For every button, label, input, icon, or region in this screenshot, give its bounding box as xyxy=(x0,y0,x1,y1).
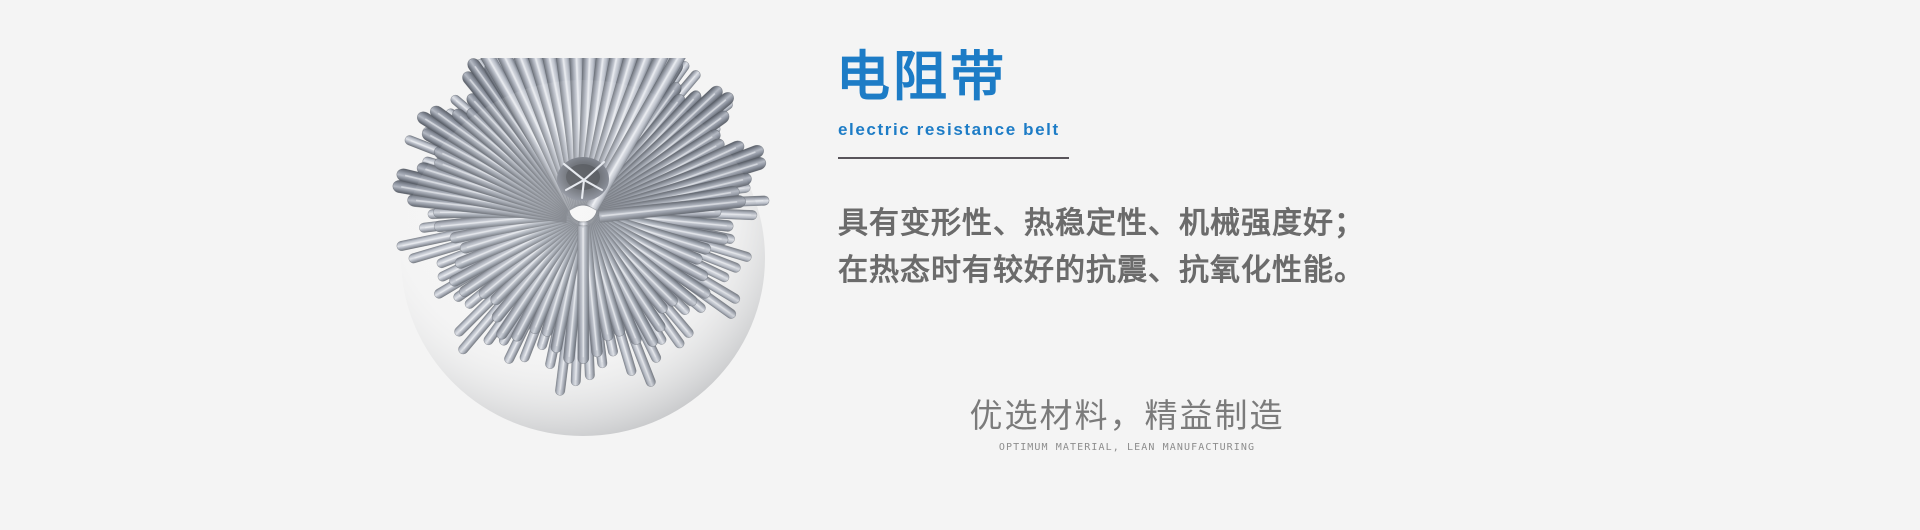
page-subtitle-english: electric resistance belt xyxy=(838,120,1476,140)
product-image xyxy=(368,58,798,458)
text-column: 电阻带 electric resistance belt 具有变形性、热稳定性、… xyxy=(836,46,1476,294)
description-line-2: 在热态时有较好的抗震、抗氧化性能。 xyxy=(838,247,1476,294)
slogan-english: OPTIMUM MATERIAL, LEAN MANUFACTURING xyxy=(952,441,1302,455)
product-description: 具有变形性、热稳定性、机械强度好； 在热态时有较好的抗震、抗氧化性能。 xyxy=(838,200,1476,294)
slogan-chinese: 优选材料，精益制造 xyxy=(952,398,1302,436)
ball-shading xyxy=(401,80,765,436)
divider xyxy=(838,157,1069,159)
product-banner: 电阻带 electric resistance belt 具有变形性、热稳定性、… xyxy=(0,0,1920,530)
description-line-1: 具有变形性、热稳定性、机械强度好； xyxy=(838,200,1476,247)
page-title: 电阻带 xyxy=(836,46,1476,108)
slogan-block: 优选材料，精益制造 OPTIMUM MATERIAL, LEAN MANUFAC… xyxy=(952,398,1302,455)
resistance-belt-coil-illustration xyxy=(368,58,798,458)
